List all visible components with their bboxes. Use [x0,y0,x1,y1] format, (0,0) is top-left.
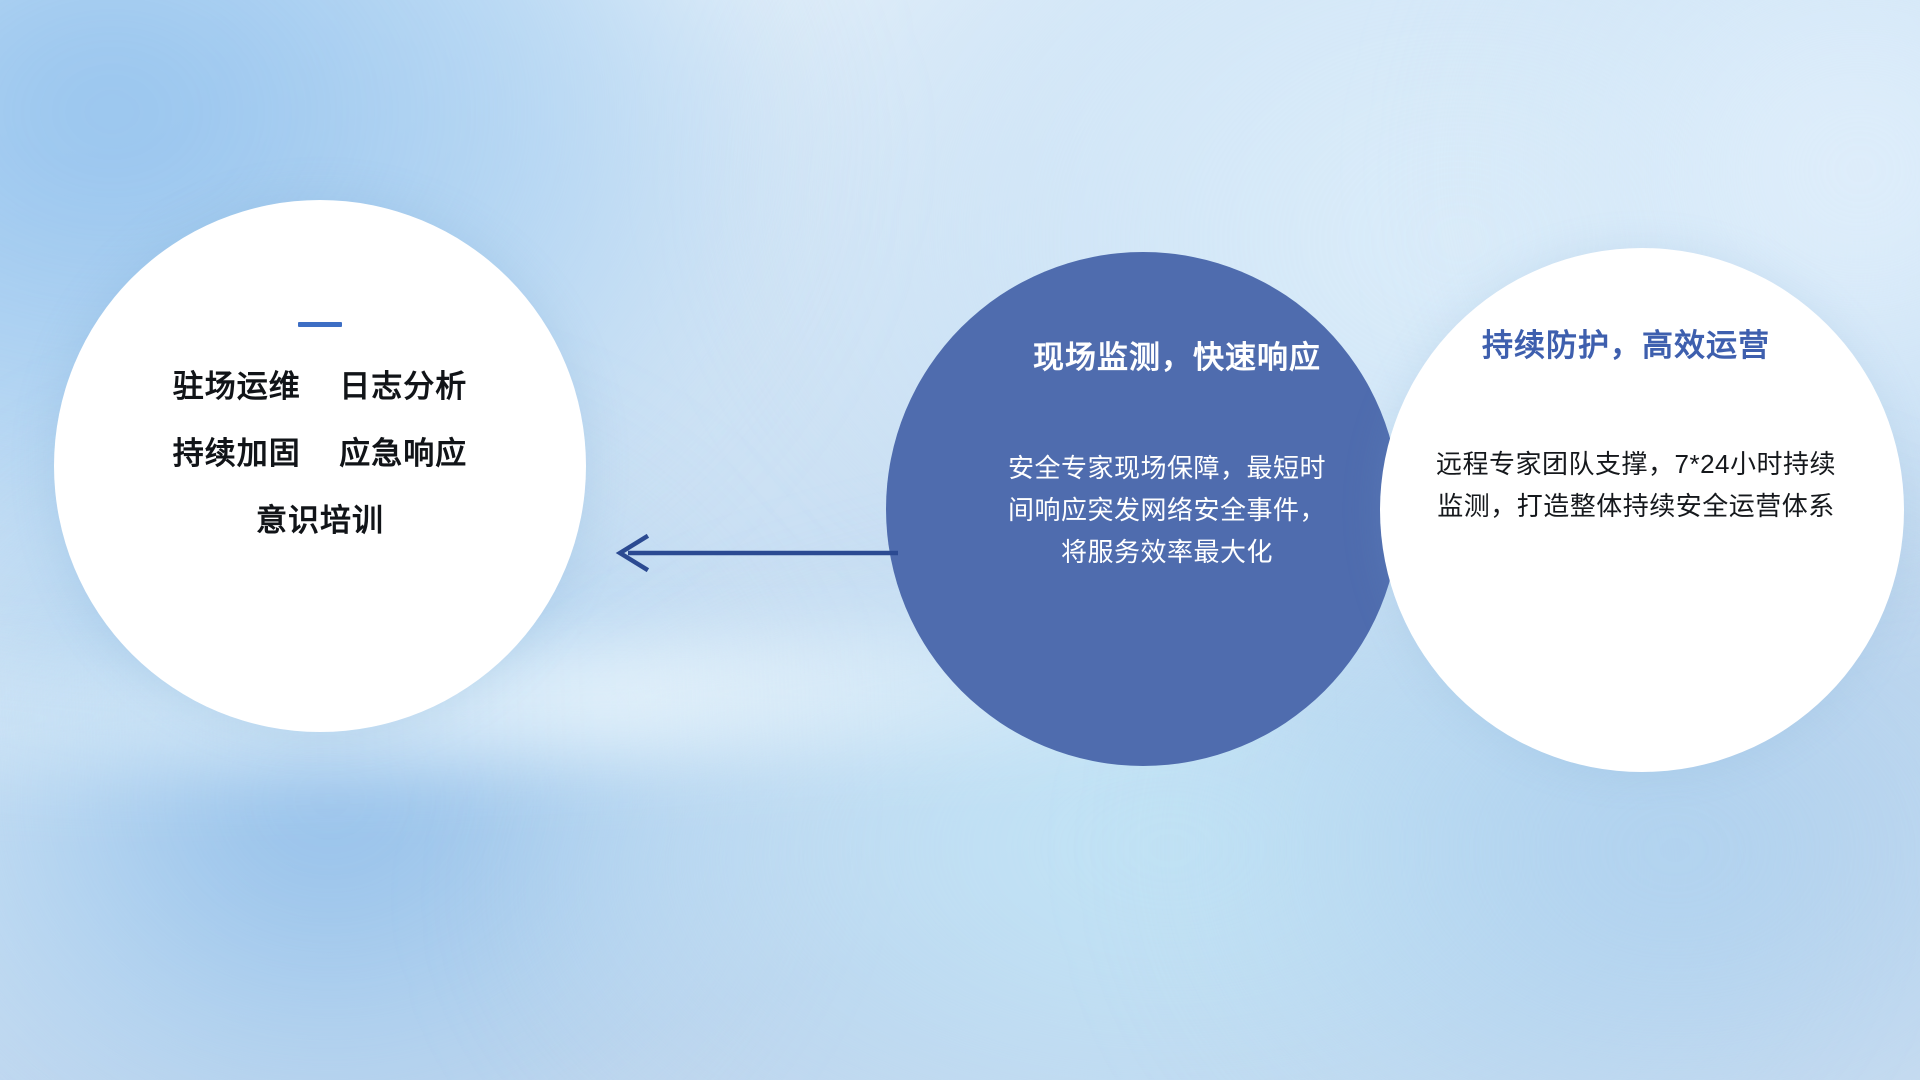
continuous-protection-body: 远程专家团队支撑，7*24小时持续监测，打造整体持续安全运营体系 [1426,443,1846,527]
node-capabilities-circle[interactable]: 驻场运维 日志分析 持续加固 应急响应 意识培训 [54,200,586,732]
node-continuous-protection-circle[interactable]: 持续防护，高效运营 远程专家团队支撑，7*24小时持续监测，打造整体持续安全运营… [1380,248,1904,772]
onsite-monitoring-title: 现场监测，快速响应 [1033,332,1321,377]
node-continuous-protection-content: 持续防护，高效运营 远程专家团队支撑，7*24小时持续监测，打造整体持续安全运营… [1380,248,1904,772]
node-onsite-monitoring-content: 现场监测，快速响应 安全专家现场保障，最短时间响应突发网络安全事件，将服务效率最… [886,252,1400,766]
onsite-monitoring-body: 安全专家现场保障，最短时间响应突发网络安全事件，将服务效率最大化 [1002,447,1332,573]
arrow-left-icon [598,528,898,578]
continuous-protection-title: 持续防护，高效运营 [1482,320,1770,365]
capability-line-1: 驻场运维 日志分析 [173,371,467,402]
capability-line-3: 意识培训 [256,505,384,536]
divider-dash [298,322,342,327]
node-capabilities-content: 驻场运维 日志分析 持续加固 应急响应 意识培训 [54,322,586,536]
node-onsite-monitoring-circle[interactable]: 现场监测，快速响应 安全专家现场保障，最短时间响应突发网络安全事件，将服务效率最… [886,252,1400,766]
connector-arrow-left [598,528,898,578]
capability-line-2: 持续加固 应急响应 [173,438,467,469]
